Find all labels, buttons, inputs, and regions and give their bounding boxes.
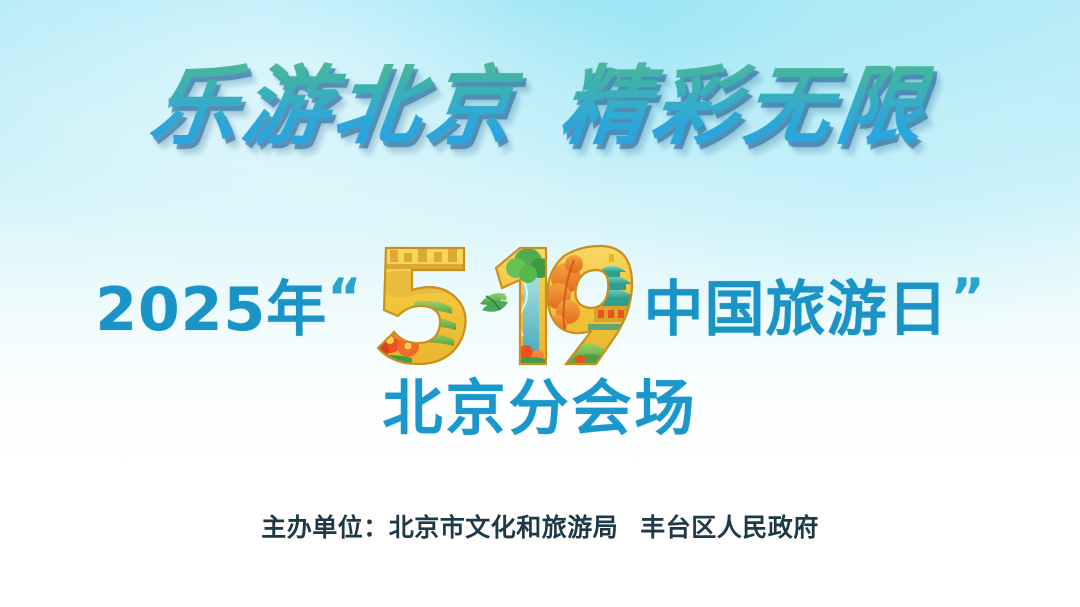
- slogan-part-two: 精彩无限: [556, 62, 935, 152]
- main-title-line: 2025年 “: [0, 244, 1080, 376]
- logo-leaf-separator: [480, 293, 508, 312]
- title-year: 2025年: [95, 280, 327, 340]
- organizer-line: 主办单位：北京市文化和旅游局丰台区人民政府: [0, 515, 1080, 540]
- poster-canvas: 乐游北京 精彩无限 2025年 “: [0, 0, 1080, 607]
- organizer-name-1: 北京市文化和旅游局: [389, 513, 619, 542]
- organizer-prefix: 主办单位：: [261, 513, 389, 542]
- slogan-part-one: 乐游北京: [145, 62, 524, 152]
- logo-digit-9: [538, 240, 640, 372]
- subtitle-venue: 北京分会场: [0, 379, 1080, 439]
- slogan-line: 乐游北京 精彩无限: [0, 62, 1080, 152]
- quote-open: “: [327, 272, 361, 324]
- title-event-name: 中国旅游日: [644, 280, 949, 340]
- quote-close: ”: [951, 272, 985, 324]
- organizer-name-2: 丰台区人民政府: [640, 513, 819, 542]
- logo-519-emblem: [368, 240, 640, 372]
- poster-content: 乐游北京 精彩无限 2025年 “: [0, 0, 1080, 607]
